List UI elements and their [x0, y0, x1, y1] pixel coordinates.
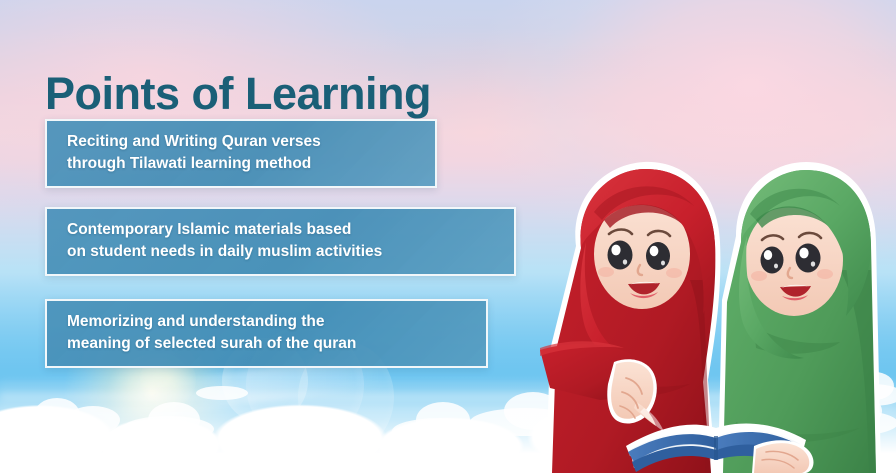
point-box-2[interactable]: Contemporary Islamic materials based on …	[45, 207, 516, 276]
point-1-line-2: through Tilawati learning method	[67, 153, 419, 175]
point-3-line-2: meaning of selected surah of the quran	[67, 333, 470, 355]
point-2-line-1: Contemporary Islamic materials based	[67, 219, 498, 241]
point-1-line-1: Reciting and Writing Quran verses	[67, 131, 419, 153]
illustration-two-girls-reading	[540, 150, 896, 473]
slide-canvas: Points of Learning Reciting and Writing …	[0, 0, 896, 473]
page-title: Points of Learning	[45, 70, 431, 117]
point-3-line-1: Memorizing and understanding the	[67, 311, 470, 333]
point-box-1[interactable]: Reciting and Writing Quran verses throug…	[45, 119, 437, 188]
point-box-3[interactable]: Memorizing and understanding the meaning…	[45, 299, 488, 368]
point-2-line-2: on student needs in daily muslim activit…	[67, 241, 498, 263]
